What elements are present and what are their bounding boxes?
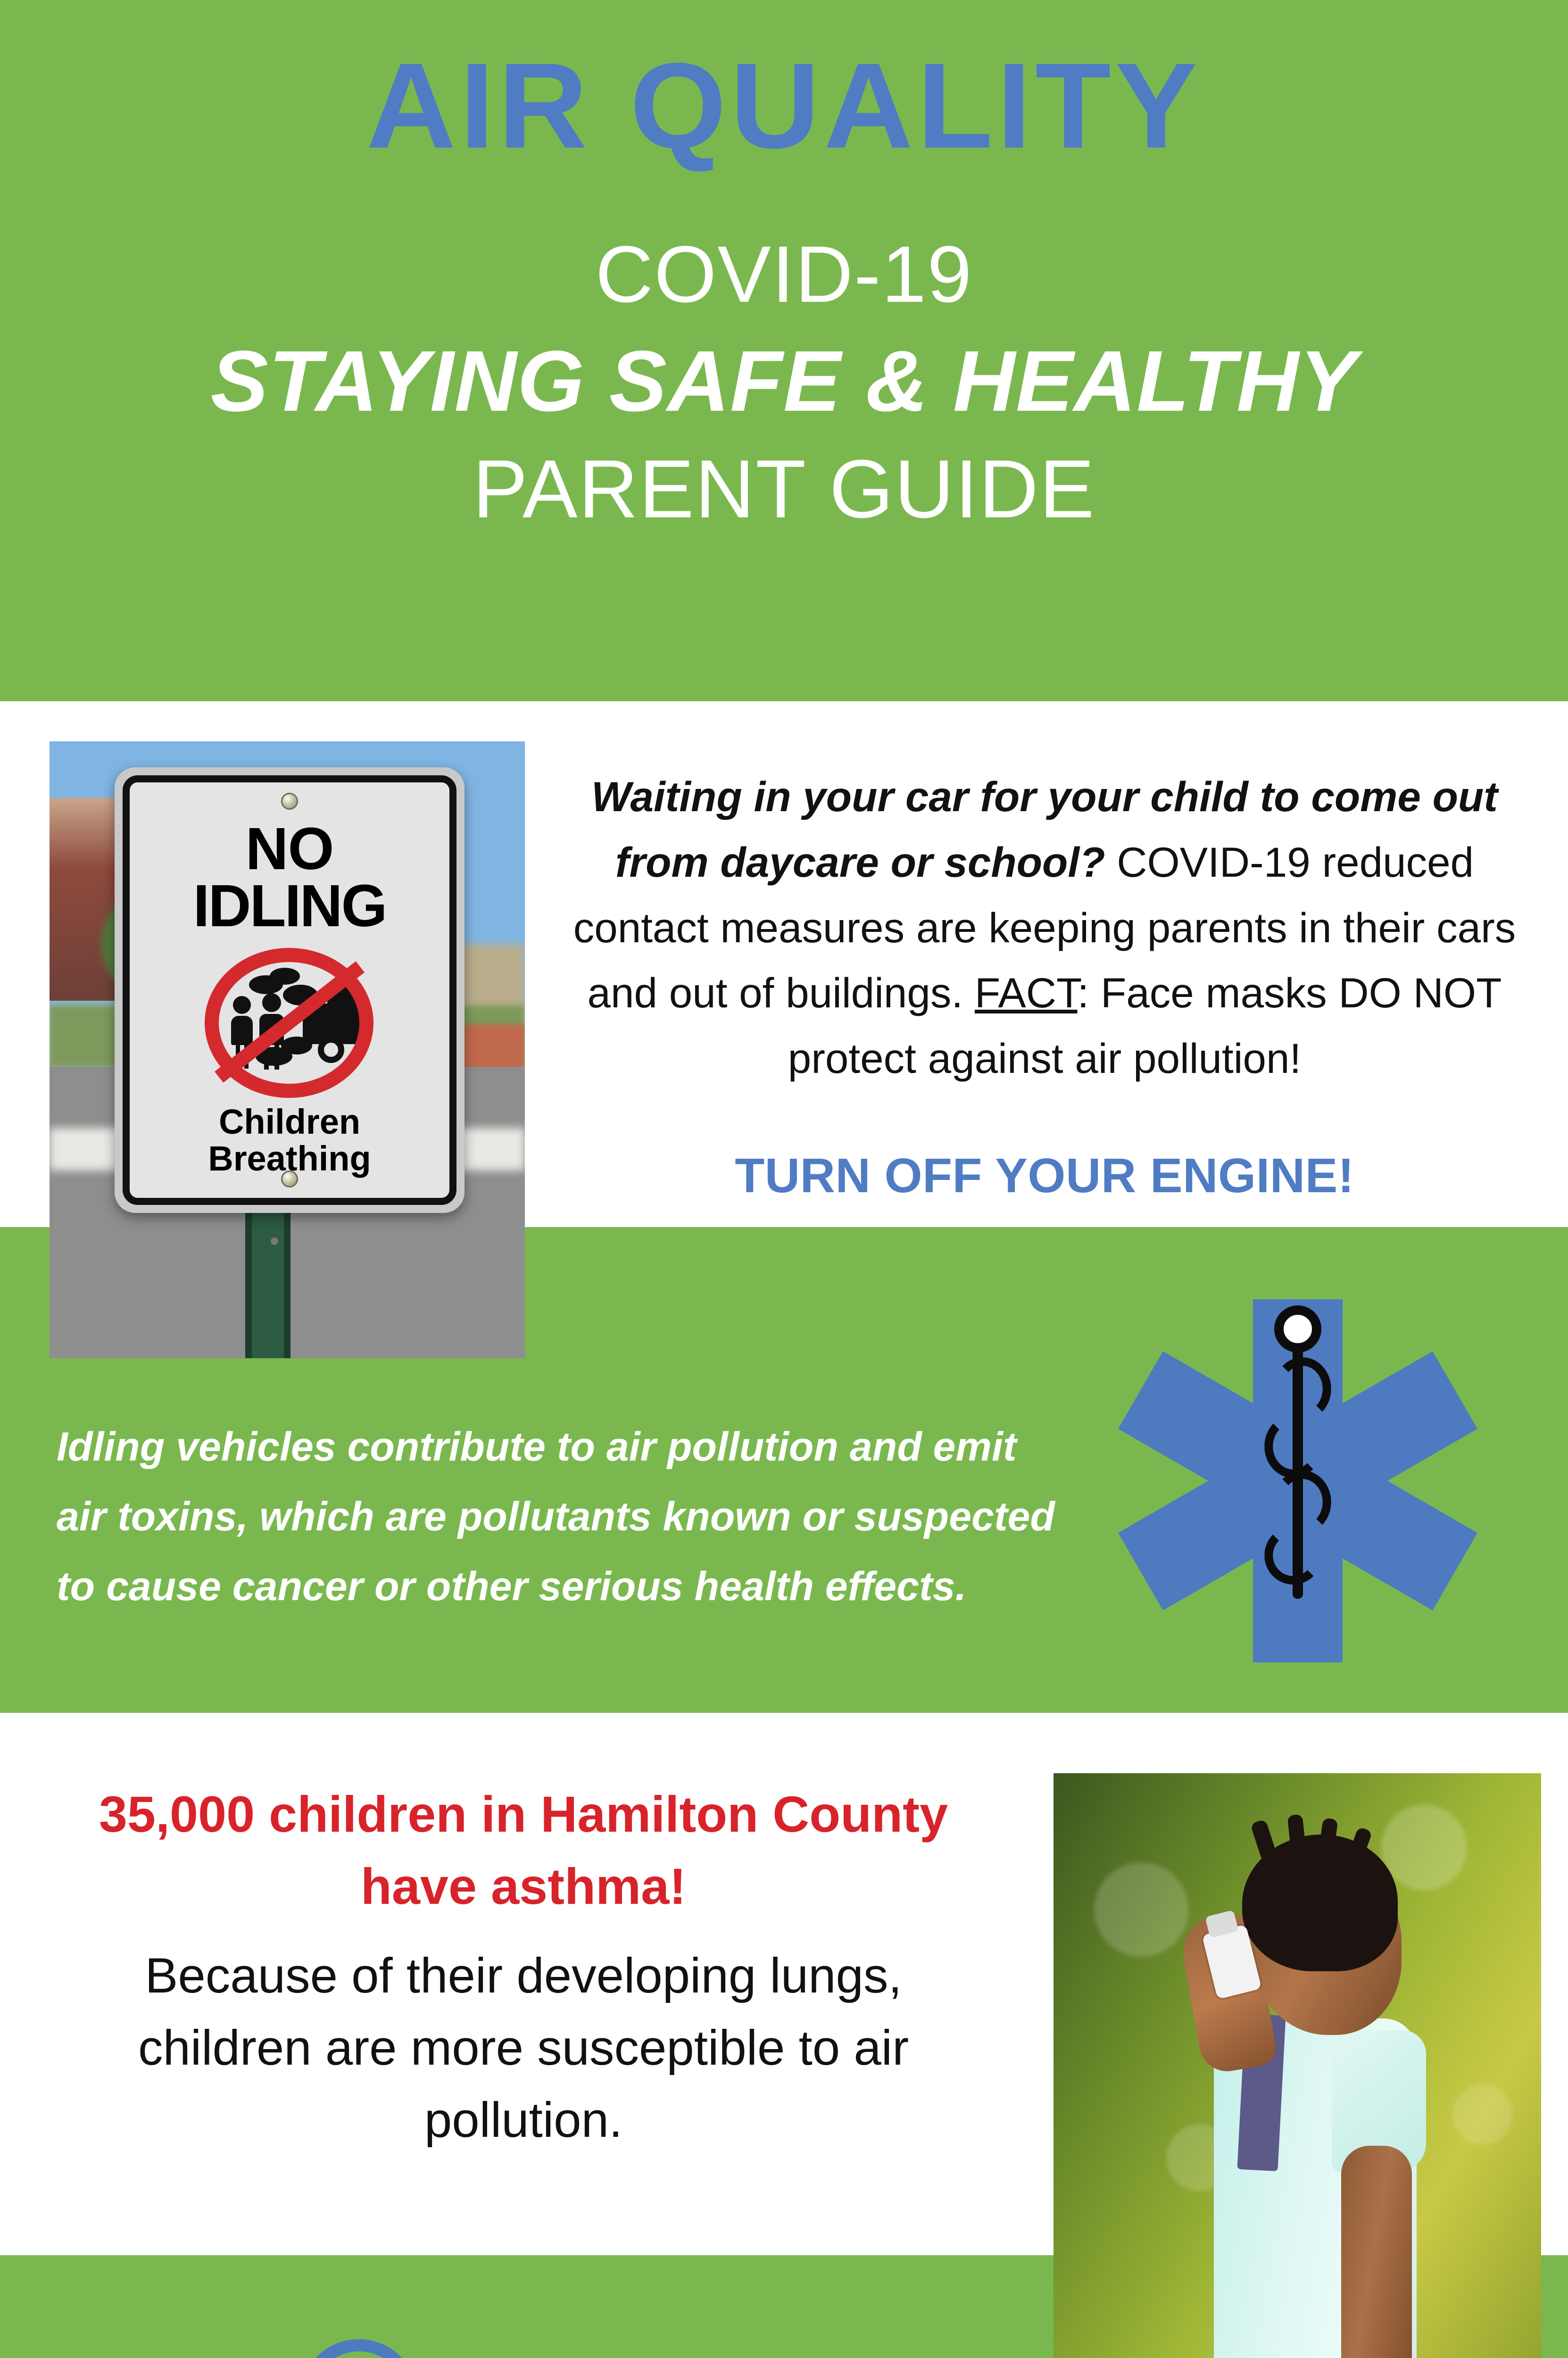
photo-child-arm bbox=[1341, 2146, 1412, 2358]
page-title: AIR QUALITY bbox=[366, 45, 1202, 166]
road-sign-face: NO IDLING Children bbox=[123, 775, 456, 1205]
page-header: AIR QUALITY COVID-19 STAYING SAFE & HEAL… bbox=[0, 0, 1568, 701]
sign-post bbox=[245, 1213, 290, 1358]
snake-coil-icon bbox=[1264, 1526, 1322, 1585]
child-with-inhaler-photo bbox=[1054, 1773, 1541, 2358]
subtitle-covid: COVID-19 bbox=[595, 232, 972, 317]
wallet-with-coins-icon: $ $ bbox=[132, 2311, 472, 2358]
intro-paragraph: Waiting in your car for your child to co… bbox=[556, 764, 1533, 1091]
sign-label-idling: IDLING bbox=[193, 876, 386, 937]
no-idling-pictogram-icon bbox=[200, 944, 379, 1100]
intro-section: Waiting in your car for your child to co… bbox=[556, 764, 1533, 1204]
dollar-sign-icon: $ bbox=[337, 2354, 380, 2358]
snake-coil-icon bbox=[1264, 1415, 1322, 1478]
asthma-section: 35,000 children in Hamilton County have … bbox=[57, 1778, 990, 2157]
asthma-headline: 35,000 children in Hamilton County have … bbox=[57, 1778, 990, 1923]
snake-head-icon bbox=[1274, 1305, 1321, 1353]
sign-label-children: Children bbox=[219, 1104, 360, 1140]
sign-bolt-top-icon bbox=[281, 793, 298, 810]
asthma-body-text: Because of their developing lungs, child… bbox=[57, 1940, 990, 2157]
road-sign-board: NO IDLING Children bbox=[115, 767, 465, 1213]
snake-coil-icon bbox=[1274, 1357, 1331, 1420]
intro-fact-label: FACT bbox=[975, 969, 1078, 1016]
sign-bolt-bottom-icon bbox=[281, 1171, 298, 1187]
sign-label-no: NO bbox=[246, 819, 334, 879]
subtitle-staying-safe: STAYING SAFE & HEALTHY bbox=[211, 336, 1358, 426]
idling-facts-text: Idling vehicles contribute to air pollut… bbox=[57, 1412, 1056, 1622]
snake-coil-icon bbox=[1274, 1470, 1331, 1534]
star-of-life-icon bbox=[1109, 1273, 1486, 1688]
photo-child-locs bbox=[1250, 1819, 1278, 1864]
call-to-action-turn-off-engine: TURN OFF YOUR ENGINE! bbox=[556, 1148, 1533, 1204]
subtitle-parent-guide: PARENT GUIDE bbox=[473, 446, 1095, 533]
no-idling-sign-photo: NO IDLING Children bbox=[50, 741, 525, 1358]
